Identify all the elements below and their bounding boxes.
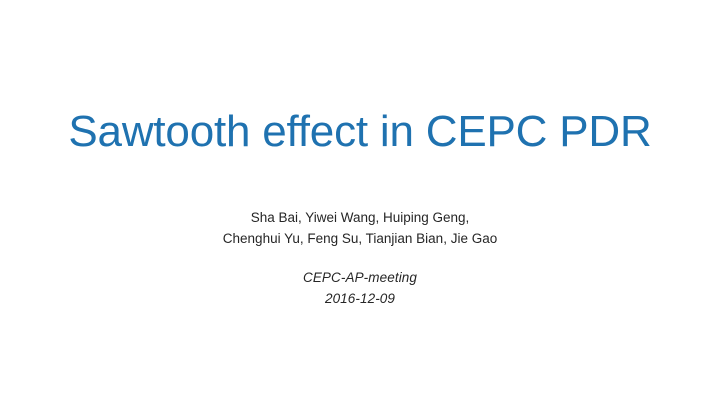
author-line-2: Chenghui Yu, Feng Su, Tianjian Bian, Jie…	[0, 229, 720, 250]
subtitle-spacer	[0, 249, 720, 268]
title-slide: Sawtooth effect in CEPC PDR Sha Bai, Yiw…	[0, 0, 720, 405]
page-title: Sawtooth effect in CEPC PDR	[0, 104, 720, 160]
meeting-date: 2016-12-09	[0, 289, 720, 310]
meeting-name: CEPC-AP-meeting	[0, 268, 720, 289]
author-line-1: Sha Bai, Yiwei Wang, Huiping Geng,	[0, 208, 720, 229]
title-block: Sawtooth effect in CEPC PDR	[0, 104, 720, 160]
subtitle-block: Sha Bai, Yiwei Wang, Huiping Geng, Cheng…	[0, 208, 720, 309]
